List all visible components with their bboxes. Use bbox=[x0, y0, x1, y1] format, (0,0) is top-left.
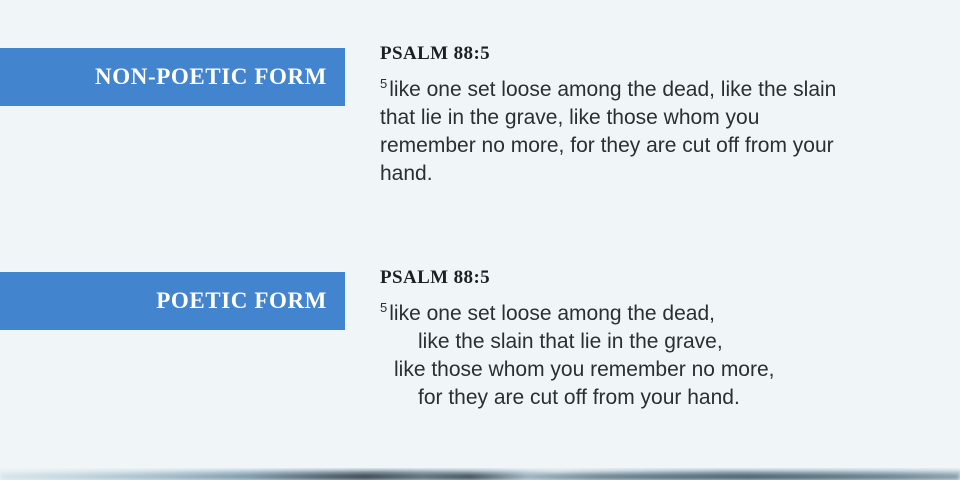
passage-body-non-poetic: 5like one set loose among the dead, like… bbox=[380, 76, 850, 188]
photo-strip-haze bbox=[0, 468, 960, 480]
poem-line-text: like the slain that lie in the grave, bbox=[418, 330, 723, 353]
poem-line-text: like one set loose among the dead, bbox=[389, 302, 715, 325]
section-label-poetic: POETIC FORM bbox=[156, 288, 327, 314]
poem-line: like the slain that lie in the grave, bbox=[380, 328, 850, 356]
background-photo-strip bbox=[0, 468, 960, 480]
verse-number-poetic: 5 bbox=[380, 300, 387, 315]
section-label-bar-poetic: POETIC FORM bbox=[0, 272, 345, 330]
section-label-non-poetic: NON-POETIC FORM bbox=[95, 64, 327, 90]
poem-line-text: like those whom you remember no more, bbox=[394, 358, 775, 381]
passage-body-poetic: 5like one set loose among the dead, like… bbox=[380, 300, 850, 412]
slide-canvas: NON-POETIC FORM PSALM 88:5 5like one set… bbox=[0, 0, 960, 480]
verse-number-non-poetic: 5 bbox=[380, 76, 387, 91]
passage-block-non-poetic: PSALM 88:5 5like one set loose among the… bbox=[380, 44, 850, 188]
poem-line-text: for they are cut off from your hand. bbox=[418, 386, 740, 409]
passage-heading-non-poetic: PSALM 88:5 bbox=[380, 44, 850, 65]
passage-block-poetic: PSALM 88:5 5like one set loose among the… bbox=[380, 268, 850, 412]
passage-text-non-poetic: like one set loose among the dead, like … bbox=[380, 78, 836, 185]
poem-line: for they are cut off from your hand. bbox=[380, 384, 850, 412]
poem-line: 5like one set loose among the dead, bbox=[380, 300, 850, 328]
passage-heading-poetic: PSALM 88:5 bbox=[380, 268, 850, 289]
section-label-bar-non-poetic: NON-POETIC FORM bbox=[0, 48, 345, 106]
poem-line: like those whom you remember no more, bbox=[380, 356, 850, 384]
